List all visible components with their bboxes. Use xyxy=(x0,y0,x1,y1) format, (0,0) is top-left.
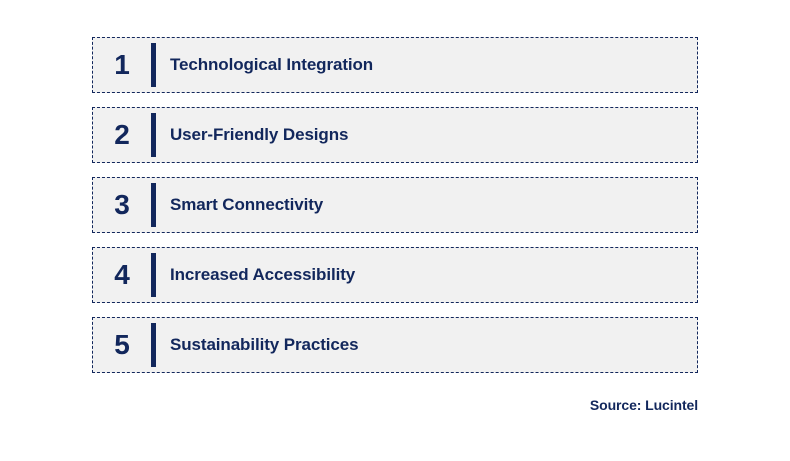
rank-number: 4 xyxy=(93,261,151,289)
list-item-label: User-Friendly Designs xyxy=(156,125,697,145)
list-item-label: Sustainability Practices xyxy=(156,335,697,355)
list-item[interactable]: 4 Increased Accessibility xyxy=(92,247,698,303)
trend-list: 1 Technological Integration 2 User-Frien… xyxy=(92,37,698,373)
list-item-label: Smart Connectivity xyxy=(156,195,697,215)
list-item[interactable]: 2 User-Friendly Designs xyxy=(92,107,698,163)
list-item[interactable]: 5 Sustainability Practices xyxy=(92,317,698,373)
rank-number: 3 xyxy=(93,191,151,219)
infographic-canvas: 1 Technological Integration 2 User-Frien… xyxy=(0,0,790,461)
rank-number: 2 xyxy=(93,121,151,149)
list-item[interactable]: 1 Technological Integration xyxy=(92,37,698,93)
list-item[interactable]: 3 Smart Connectivity xyxy=(92,177,698,233)
list-item-label: Increased Accessibility xyxy=(156,265,697,285)
rank-number: 5 xyxy=(93,331,151,359)
list-item-label: Technological Integration xyxy=(156,55,697,75)
rank-number: 1 xyxy=(93,51,151,79)
source-attribution: Source: Lucintel xyxy=(590,397,698,413)
